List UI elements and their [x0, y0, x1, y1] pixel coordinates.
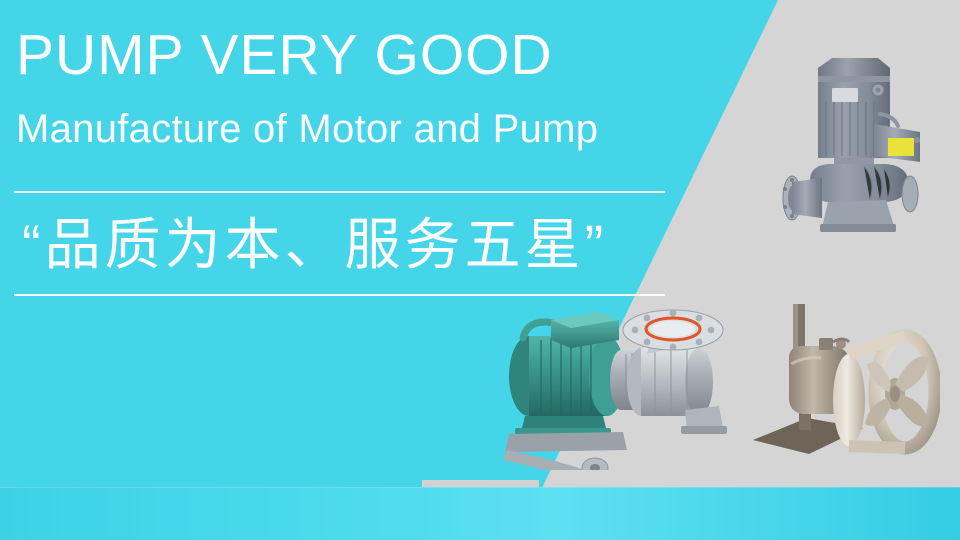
page-subtitle: Manufacture of Motor and Pump	[16, 104, 598, 154]
bottom-accent-bar	[0, 487, 960, 540]
divider-line-top	[14, 191, 665, 193]
bottom-bar-notch	[422, 480, 539, 487]
product-image-motor-centrifugal-pump	[495, 300, 745, 470]
promo-banner: PUMP VERY GOOD Manufacture of Motor and …	[0, 0, 960, 540]
page-title: PUMP VERY GOOD	[16, 24, 553, 86]
tagline-chinese: “品质为本、服务五星”	[22, 203, 607, 287]
divider-line-bottom	[14, 294, 665, 296]
product-image-submersible-mixer	[745, 300, 940, 465]
product-image-vertical-inline-pump	[770, 46, 945, 246]
